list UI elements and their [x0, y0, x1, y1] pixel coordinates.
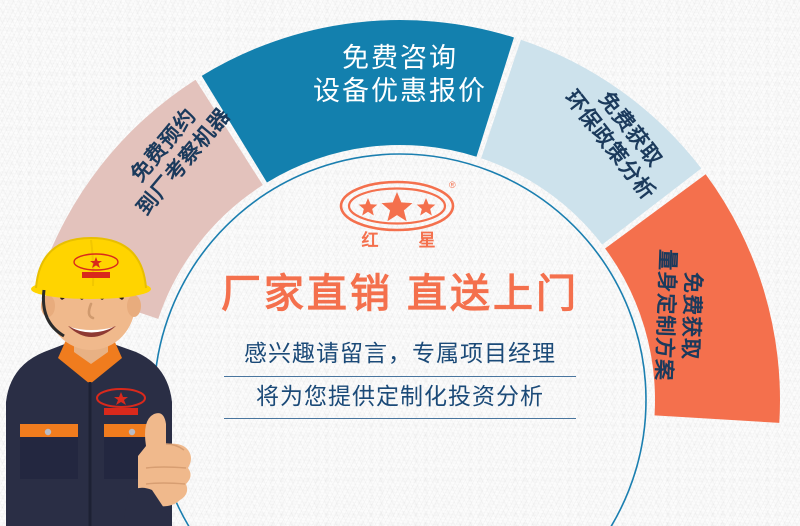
worker-photo	[0, 232, 226, 526]
promo-banner: 免费预约 到厂考察机器 免费咨询 设备优惠报价 免费获取 环保政策分析 免费获取…	[0, 0, 800, 526]
worker-pocket-left	[20, 437, 78, 479]
registered-mark: ®	[449, 180, 456, 190]
subtext-line-1: 感兴趣请留言，专属项目经理	[224, 336, 576, 372]
worker-pocket-button-left	[45, 429, 51, 435]
subtext-block: 感兴趣请留言，专属项目经理 将为您提供定制化投资分析	[224, 336, 576, 421]
subtext-divider-2	[224, 418, 576, 419]
worker-ear-right	[127, 295, 141, 317]
logo-char-right: 星	[419, 231, 436, 250]
center-content: ® 红 星 厂家直销 直送上门 感兴趣请留言，专属项目经理 将为您提供定制化投资…	[160, 170, 640, 470]
logo-char-left: 红	[362, 230, 379, 250]
subtext-line-2: 将为您提供定制化投资分析	[224, 379, 576, 415]
subtext-divider-1	[224, 376, 576, 377]
hongxing-logo: ® 红 星	[337, 178, 463, 252]
headline: 厂家直销 直送上门	[221, 274, 579, 314]
worker-helmet-brim	[31, 279, 151, 299]
worker-pocket-button-right	[129, 429, 135, 435]
